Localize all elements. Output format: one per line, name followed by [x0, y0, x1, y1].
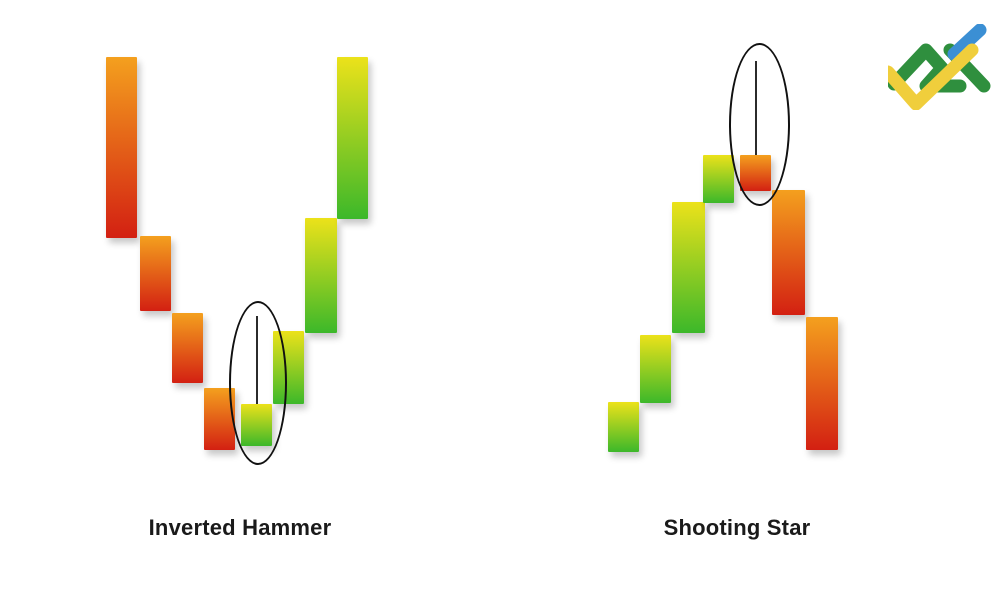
caption-shooting-star: Shooting Star	[497, 515, 977, 541]
shooting-star-candle-3-body	[672, 202, 705, 333]
litefinance-logo[interactable]	[888, 24, 998, 110]
shooting-star-candle-6-body	[772, 190, 805, 315]
shooting-star-candle-4-body	[703, 155, 734, 203]
shooting-star-candle-7-body	[806, 317, 838, 450]
shooting-star-candle-1-body	[608, 402, 639, 452]
pattern-illustration-canvas: Inverted Hammer Shooting Star	[0, 0, 1000, 612]
shooting-star-highlight-ellipse	[729, 43, 790, 206]
caption-inverted-hammer: Inverted Hammer	[0, 515, 480, 541]
shooting-star-candle-2-body	[640, 335, 671, 403]
